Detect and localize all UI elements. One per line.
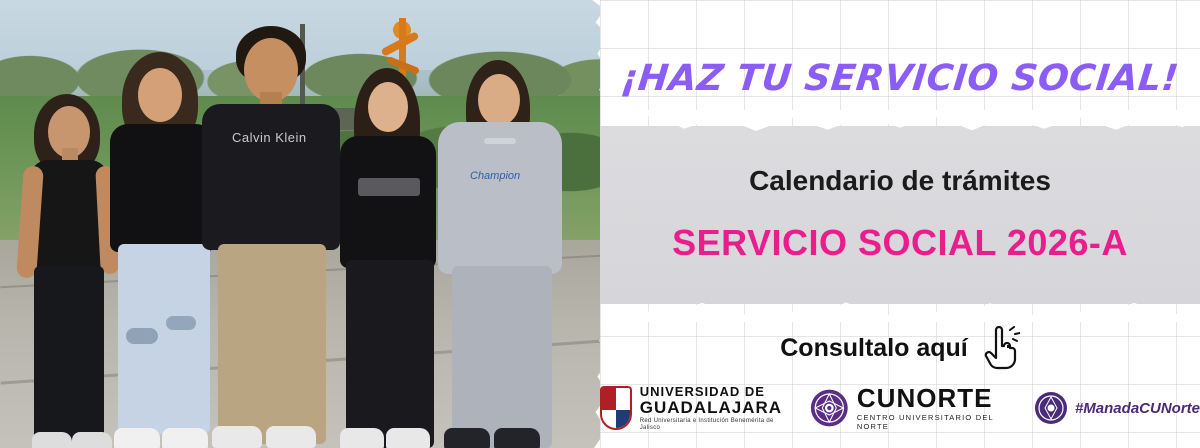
student-figure-3: Calvin Klein: [196, 12, 346, 448]
headline-text: ¡HAZ TU SERVICIO SOCIAL!: [598, 58, 1200, 99]
cta-group[interactable]: Consultalo aquí: [600, 326, 1200, 370]
hoodie-brand-text: Champion: [470, 170, 532, 184]
gray-torn-band: [600, 126, 1200, 304]
text-panel: ¡HAZ TU SERVICIO SOCIAL! Calendario de t…: [600, 0, 1200, 448]
hand-pointer-icon: [982, 326, 1020, 370]
page-title: SERVICIO SOCIAL 2026-A: [600, 222, 1200, 264]
subheadline-text: Calendario de trámites: [600, 165, 1200, 197]
udg-line2: GUADALAJARA: [640, 399, 785, 417]
manada-seal-icon: [1034, 391, 1068, 425]
cta-label[interactable]: Consultalo aquí: [780, 334, 968, 363]
cunorte-subtitle: CENTRO UNIVERSITARIO DEL NORTE: [857, 413, 1008, 431]
manada-hashtag-logo: #ManadaCUNorte: [1034, 391, 1200, 425]
cunorte-name: CUNORTE: [857, 385, 1008, 411]
student-figure-5: Champion: [430, 18, 570, 448]
logo-bar: UNIVERSIDAD DE GUADALAJARA Red Universit…: [600, 376, 1200, 440]
manada-hashtag-text: #ManadaCUNorte: [1075, 400, 1200, 417]
udg-tagline: Red Universitaria e Institución Beneméri…: [640, 418, 785, 431]
udg-logo: UNIVERSIDAD DE GUADALAJARA Red Universit…: [600, 385, 784, 431]
campus-students-photo: Calvin Klein Champion: [0, 0, 620, 448]
cunorte-logo: CUNORTE CENTRO UNIVERSITARIO DEL NORTE: [810, 385, 1008, 431]
cunorte-mandala-icon: [810, 386, 849, 430]
promotional-banner: Calvin Klein Champion ¡HAZ TU SERVICIO S…: [0, 0, 1200, 448]
udg-shield-icon: [600, 386, 632, 430]
udg-line1: UNIVERSIDAD DE: [640, 385, 785, 399]
shirt-brand-text: Calvin Klein: [232, 130, 318, 146]
